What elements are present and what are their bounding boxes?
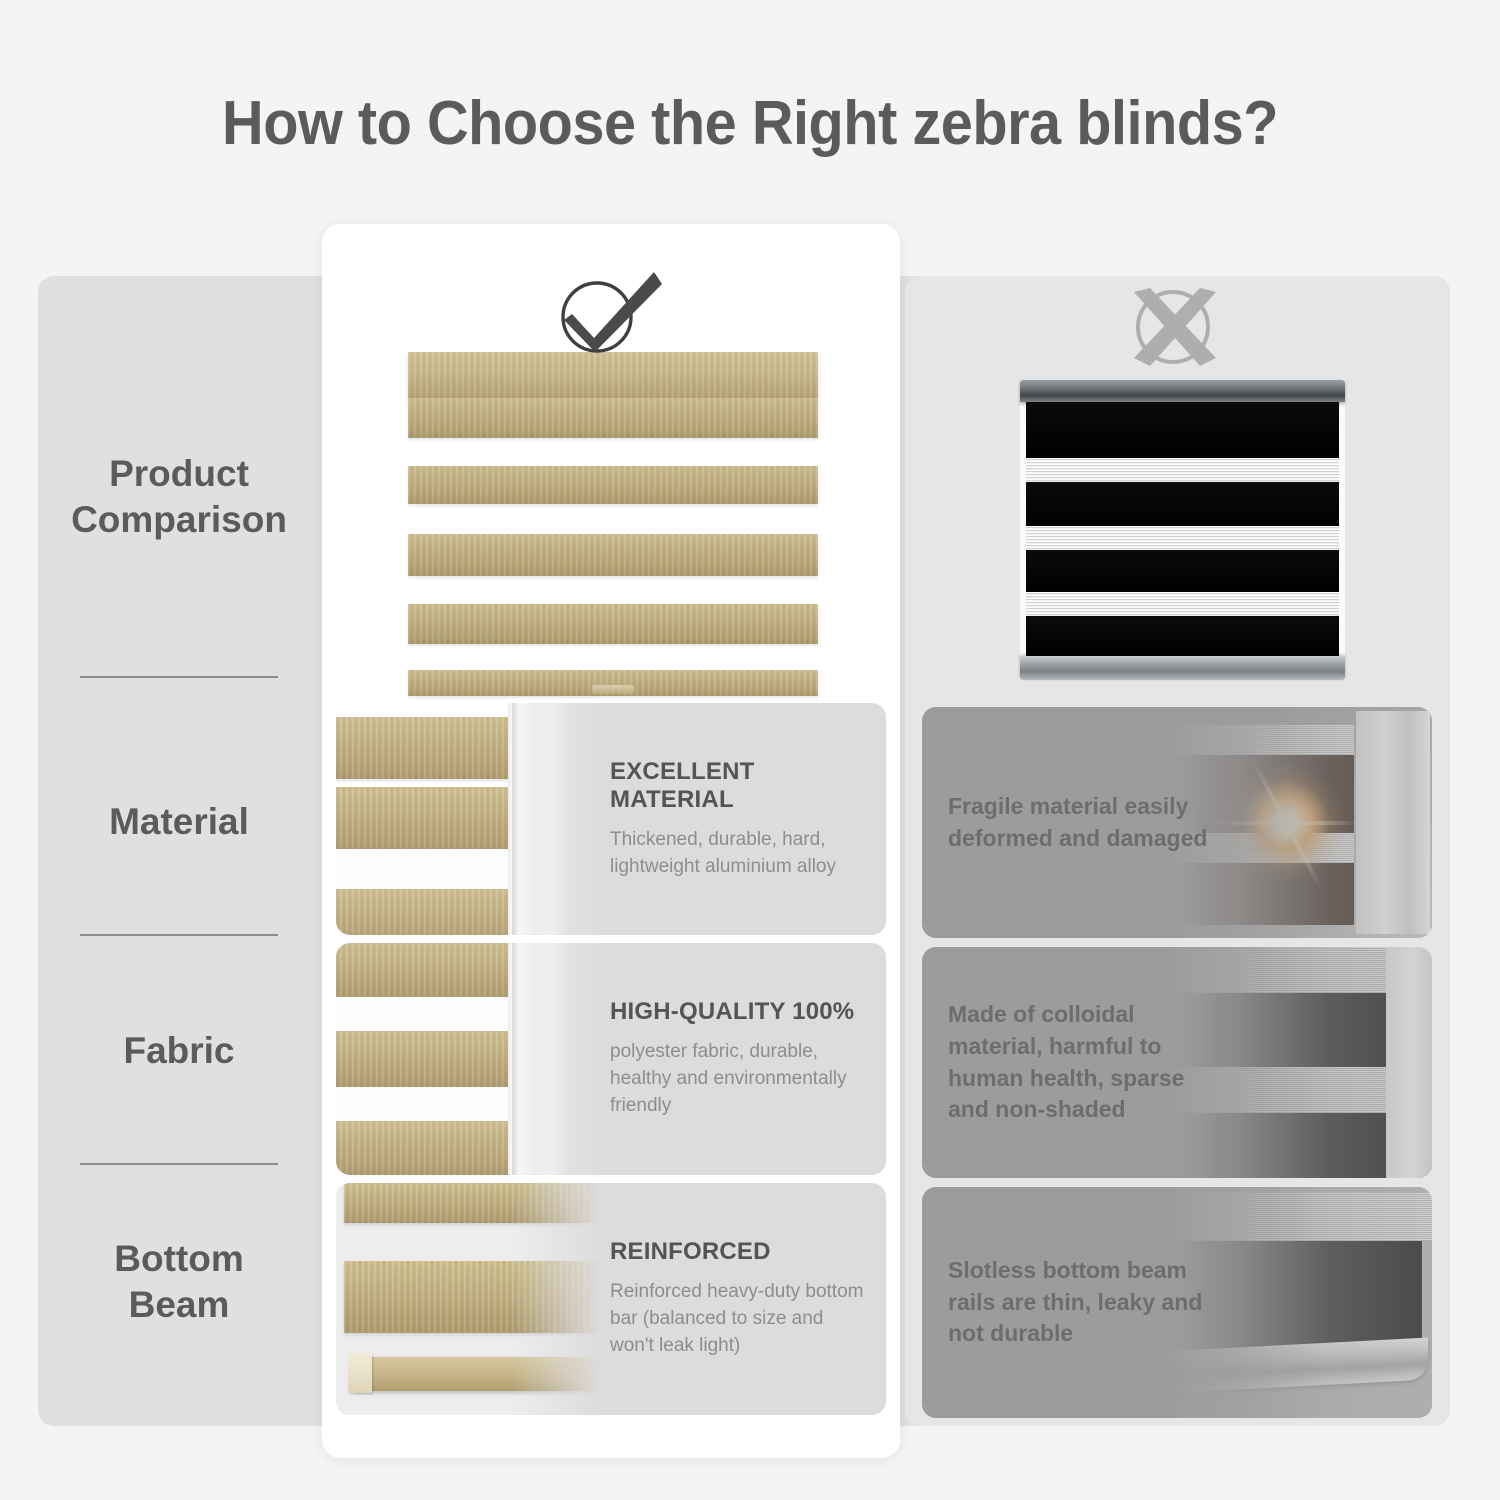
blind-sheer-band (1026, 592, 1339, 616)
white-window-frame (508, 943, 604, 1175)
good-feature-material: EXCELLENT MATERIAL Thickened, durable, h… (336, 703, 886, 935)
blind-slat (408, 604, 818, 644)
blind-bottom-bar (408, 670, 818, 696)
row-label-column: Product Comparison Material Fabric Botto… (38, 276, 320, 1426)
blind-band (336, 787, 554, 849)
blind-dark-band (1026, 616, 1339, 656)
blind-gap (336, 1087, 554, 1121)
blind-dark-band (1026, 550, 1339, 592)
bottom-beam-photo (336, 1183, 604, 1415)
good-hero-blind-image (408, 352, 818, 697)
good-fabric-text: HIGH-QUALITY 100% polyester fabric, dura… (598, 943, 872, 1175)
feature-body: Thickened, durable, hard, lightweight al… (610, 827, 872, 881)
blind-dark-band (1026, 482, 1339, 526)
blind-band (336, 943, 554, 997)
row-label-line1: Bottom (114, 1238, 243, 1279)
row-label-line2: Beam (129, 1284, 230, 1325)
bad-product-column: Fragile material easily deformed and dam… (905, 276, 1450, 1426)
blind-headrail (1020, 380, 1345, 402)
window-frame-photo (336, 703, 604, 935)
bottom-bar-end-cap (348, 1353, 372, 1393)
feature-title: HIGH-QUALITY 100% (610, 998, 872, 1026)
good-product-card: EXCELLENT MATERIAL Thickened, durable, h… (322, 224, 900, 1458)
white-window-frame (508, 703, 604, 935)
good-bottom-beam-photo (336, 1183, 604, 1415)
bottom-bar-knob (592, 685, 634, 694)
bad-feature-material: Fragile material easily deformed and dam… (922, 707, 1432, 938)
feature-title: EXCELLENT MATERIAL (610, 758, 872, 814)
row-label-material: Material (38, 799, 320, 845)
blind-sheer-band (1026, 526, 1339, 550)
x-circle-icon (1120, 282, 1226, 372)
blind-bottom-rail (1020, 656, 1345, 680)
page-title: How to Choose the Right zebra blinds? (53, 88, 1448, 159)
bad-hero-blind-image (1020, 380, 1345, 680)
blind-slat (408, 534, 818, 576)
blind-dark-band (1026, 402, 1339, 458)
row-label-bottom-beam: Bottom Beam (38, 1236, 320, 1327)
blind-band (336, 717, 554, 779)
fabric-closeup-photo (336, 943, 604, 1175)
row-divider-2 (80, 934, 278, 936)
good-material-text: EXCELLENT MATERIAL Thickened, durable, h… (598, 703, 872, 935)
blind-gap (336, 849, 554, 889)
blind-valance (408, 352, 818, 398)
blind-band (336, 1031, 554, 1087)
blind-slat (344, 1183, 604, 1223)
good-feature-fabric: HIGH-QUALITY 100% polyester fabric, dura… (336, 943, 886, 1175)
row-label-line2: Comparison (71, 499, 287, 540)
good-feature-bottom-beam: REINFORCED Reinforced heavy-duty bottom … (336, 1183, 886, 1415)
bad-feature-body: Fragile material easily deformed and dam… (948, 707, 1218, 938)
reinforced-bottom-bar (354, 1357, 604, 1391)
blind-gap (336, 997, 554, 1031)
blind-sheer-band (1026, 458, 1339, 482)
feature-body: Reinforced heavy-duty bottom bar (balanc… (610, 1279, 872, 1360)
good-material-photo (336, 703, 604, 935)
bad-feature-bottom-beam: Slotless bottom beam rails are thin, lea… (922, 1187, 1432, 1418)
row-divider-3 (80, 1163, 278, 1165)
blind-band (336, 889, 554, 935)
good-fabric-photo (336, 943, 604, 1175)
row-label-fabric: Fabric (38, 1028, 320, 1074)
blind-slat (408, 466, 818, 504)
bad-feature-body: Slotless bottom beam rails are thin, lea… (948, 1187, 1218, 1418)
bad-feature-body: Made of colloidal material, harmful to h… (948, 947, 1218, 1178)
bad-feature-fabric: Made of colloidal material, harmful to h… (922, 947, 1432, 1178)
row-label-product-comparison: Product Comparison (38, 451, 320, 542)
check-circle-icon (550, 262, 670, 358)
blind-slat (408, 398, 818, 438)
feature-body: polyester fabric, durable, healthy and e… (610, 1039, 872, 1120)
blind-slat (344, 1261, 604, 1333)
row-divider-1 (80, 676, 278, 678)
feature-title: REINFORCED (610, 1238, 872, 1266)
good-bottom-beam-text: REINFORCED Reinforced heavy-duty bottom … (598, 1183, 872, 1415)
row-label-line1: Product (109, 453, 249, 494)
blind-band (336, 1121, 554, 1175)
